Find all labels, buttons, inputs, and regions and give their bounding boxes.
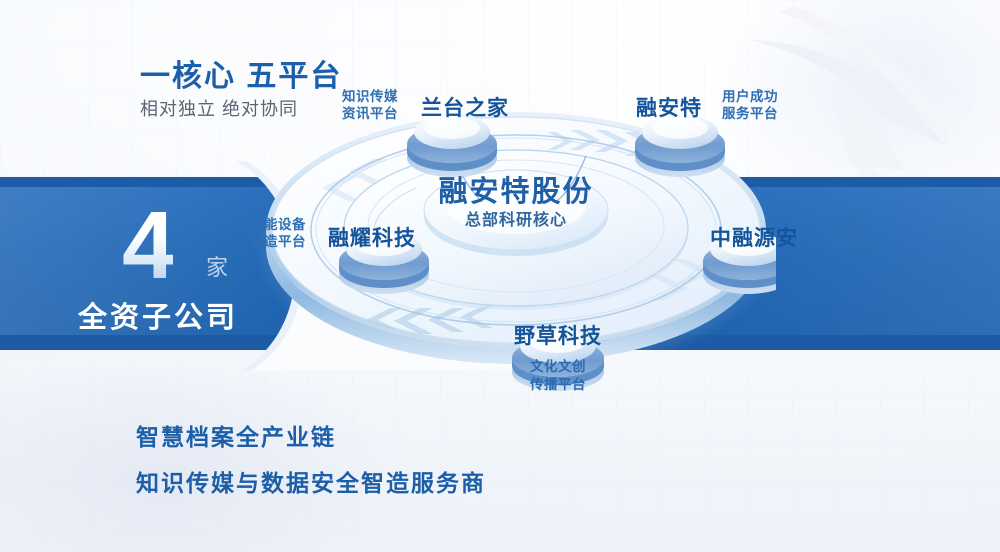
stat-number: 4 (122, 198, 173, 294)
platform-lantai-desc: 知识传媒 资讯平台 (342, 88, 398, 122)
tagline-secondary: 知识传媒与数据安全智造服务商 (136, 464, 486, 498)
core-name: 融安特股份 (366, 168, 666, 210)
platform-yecao-desc: 文化文创 传播平台 (512, 358, 604, 394)
platform-zhongrong-name: 中融源安 (710, 222, 798, 252)
platform-lantai-name: 兰台之家 (421, 92, 509, 122)
platform-rongante-name: 融安特 (636, 92, 702, 122)
platform-rongyao-name: 融耀科技 (328, 222, 416, 252)
tagline-primary: 智慧档案全产业链 (136, 418, 336, 452)
platform-zhongrong-desc: 项目交付 实施平台 (818, 217, 874, 251)
stat-label: 全资子公司 (78, 294, 238, 336)
platform-rongante-desc: 用户成功 服务平台 (722, 88, 778, 122)
slide-canvas: 一核心 五平台 相对独立 绝对协同 4 家 全资子公司 (0, 0, 1000, 552)
stat-unit: 家 (206, 250, 228, 282)
platform-ecosystem-diagram: 融安特股份 总部科研核心 知识传媒 资讯平台 兰台之家 融安特 用户成功 服务平… (256, 60, 776, 410)
platform-yecao-name: 野草科技 (514, 320, 602, 350)
platform-rongyao-desc: 智能设备 智造平台 (250, 216, 306, 250)
